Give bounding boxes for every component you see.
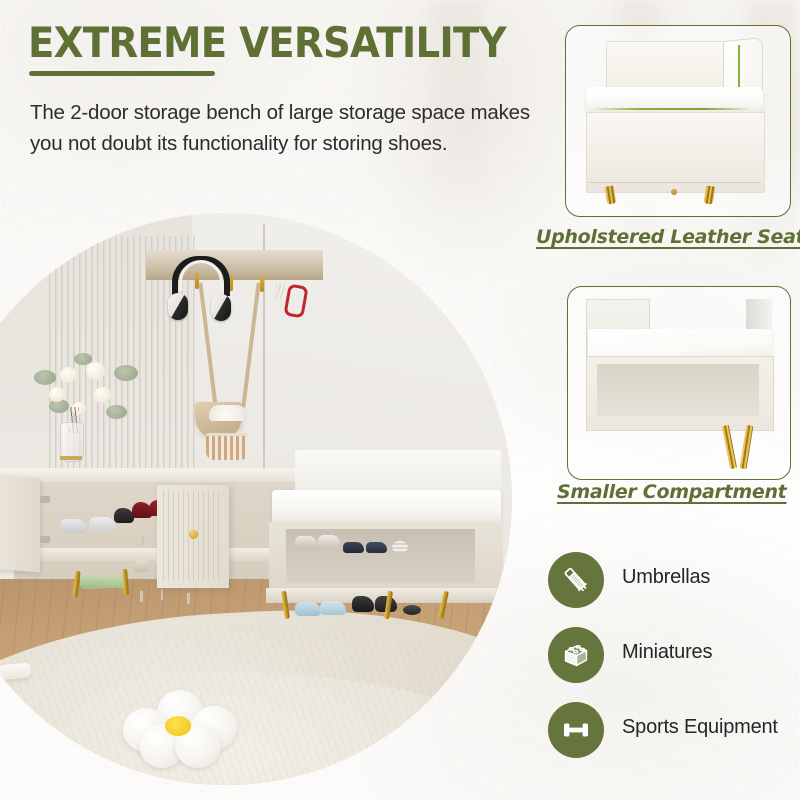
page-subtitle: The 2-door storage bench of large storag…	[30, 97, 550, 159]
pouf-center	[165, 716, 191, 736]
page-title: EXTREME VERSATILITY	[28, 22, 506, 64]
shoe	[392, 541, 408, 553]
shoe	[89, 517, 115, 531]
seat-green-trim	[591, 108, 752, 111]
vase-band	[60, 456, 82, 460]
hero-lifestyle-photo	[0, 213, 512, 785]
foliage	[106, 405, 127, 419]
wall-hook	[260, 276, 264, 292]
shoe	[295, 536, 317, 548]
headphones-earcup	[211, 294, 231, 321]
shoe	[295, 602, 321, 616]
feature-label: Umbrellas	[622, 566, 710, 589]
umbrella-icon	[561, 565, 591, 595]
door-hinge	[40, 496, 50, 503]
feature-label: Sports Equipment	[622, 716, 778, 739]
shoe	[343, 542, 364, 553]
shoe-heel-spike	[142, 536, 145, 545]
seat-knob	[671, 189, 677, 195]
seat-box-edge-line	[588, 182, 760, 183]
seat-leg	[704, 185, 716, 204]
compartment-cavity	[597, 364, 759, 416]
compartment-leg	[740, 425, 754, 470]
title-underline-rule	[29, 71, 215, 76]
cabinet-door-open-left	[0, 469, 40, 573]
shoe	[366, 542, 387, 553]
headphones-earcup	[168, 293, 188, 320]
bench-seat-cushion	[272, 490, 501, 525]
detail-panel-compartment	[567, 286, 791, 480]
shoe	[60, 519, 86, 533]
flower-floor-pouf	[123, 690, 239, 768]
woven-basket	[206, 433, 248, 460]
foliage	[114, 365, 138, 381]
detail-panel-seat-caption: Upholstered Leather Seat	[536, 226, 800, 248]
detail-panel-compartment-caption: Smaller Compartment	[557, 481, 786, 503]
bench-backrest	[295, 450, 501, 496]
shoe	[80, 576, 105, 589]
feature-label: Miniatures	[622, 641, 712, 664]
product-infographic-page: EXTREME VERSATILITY The 2-door storage b…	[0, 0, 800, 800]
compartment-leg	[721, 425, 736, 470]
shoe	[318, 535, 340, 547]
area-rug-texture	[0, 625, 512, 785]
shoe	[403, 605, 421, 615]
door-hinge	[40, 536, 50, 543]
shoe-heel-spike	[140, 591, 143, 602]
dumbbell-icon	[561, 715, 591, 745]
shoe-heel-spike	[187, 593, 190, 604]
detail-panel-seat	[565, 25, 791, 217]
bench-open-compartment	[286, 529, 475, 583]
shoe	[352, 596, 374, 612]
basket-contents	[209, 405, 247, 421]
shoe	[320, 601, 346, 615]
flower-bloom	[86, 362, 105, 380]
lego-brick-icon	[561, 640, 591, 670]
hero-scene	[0, 213, 512, 785]
shoe-heel-spike	[161, 589, 164, 600]
